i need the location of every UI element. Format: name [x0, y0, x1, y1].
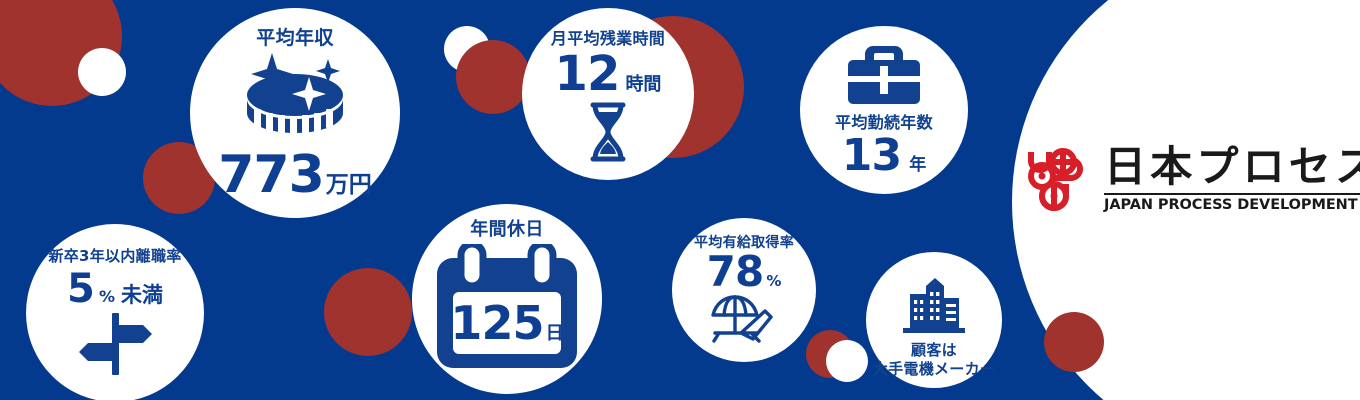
- stat-suffix: 未満: [121, 285, 163, 306]
- stat-unit: 時間: [625, 76, 661, 94]
- decor-circle-red-upper-mid: [456, 40, 530, 114]
- stat-unit: %: [99, 289, 115, 305]
- stat-caption: 年間休日: [470, 220, 543, 240]
- stat-value: 12: [555, 50, 620, 98]
- briefcase-icon: [846, 44, 922, 110]
- company-logo: 日本プロセス JAPAN PROCESS DEVELOPMENT CO.,LTD…: [1022, 146, 1360, 213]
- stat-caption: 平均年収: [256, 28, 334, 49]
- stat-caption: 月平均残業時間: [551, 30, 665, 48]
- japan-process-logo-mark-icon: [1022, 146, 1094, 212]
- stat-value: 125: [450, 300, 543, 346]
- stat-unit: 万円: [326, 174, 372, 197]
- stat-bubble-new-grad-turnover: 新卒3年以内離職率 5 % 未満: [26, 224, 204, 400]
- stat-value: 78: [707, 251, 764, 293]
- decor-circle-red-lower-mid: [324, 268, 412, 356]
- stat-value: 773: [218, 149, 323, 201]
- stat-caption: 新卒3年以内離職率: [48, 248, 181, 265]
- logo-name-ja: 日本プロセス: [1104, 146, 1360, 188]
- signpost-icon: [78, 313, 152, 379]
- buildings-icon: [899, 276, 969, 338]
- stat-unit: 年: [909, 157, 926, 174]
- coin-stack-icon: [236, 51, 354, 151]
- stat-bubble-average-income: 平均年収: [190, 8, 400, 218]
- stat-value-row: 78 %: [707, 251, 782, 293]
- decor-circle-white-bottom-mid: [826, 340, 868, 382]
- stat-value-row: 13 年: [842, 134, 926, 178]
- stat-bubble-annual-holidays: 年間休日 125 日: [412, 204, 602, 394]
- stat-value-row: 773 万円: [218, 149, 371, 201]
- stat-bubble-average-tenure: 平均勤続年数 13 年: [800, 26, 968, 194]
- stat-value: 5: [67, 269, 94, 309]
- stat-bubble-monthly-overtime: 月平均残業時間 12 時間: [522, 8, 694, 180]
- hourglass-icon: [581, 100, 635, 168]
- logo-divider: [1104, 193, 1360, 195]
- beach-chair-icon: [707, 295, 781, 347]
- infographic-banner: 平均年収: [0, 0, 1360, 400]
- decor-circle-red-over-hero: [1044, 312, 1104, 372]
- logo-text-block: 日本プロセス JAPAN PROCESS DEVELOPMENT CO.,LTD…: [1104, 146, 1360, 213]
- stat-value: 13: [842, 134, 901, 178]
- stat-unit: 日: [546, 325, 564, 343]
- stat-value-row: 5 % 未満: [67, 269, 163, 309]
- stat-bubble-paid-leave-rate: 平均有給取得率 78 %: [672, 218, 816, 362]
- client-line-1: 顧客は: [911, 342, 957, 359]
- stat-unit: %: [766, 274, 781, 289]
- stat-bubble-clients: 顧客は 大手電機メーカー: [866, 252, 1002, 388]
- stat-value-row: 12 時間: [555, 50, 662, 98]
- calendar-icon: 125 日: [427, 244, 587, 376]
- client-line-2: 大手電機メーカー: [873, 361, 995, 378]
- decor-circle-white-top-left: [78, 48, 126, 96]
- stat-caption: 平均勤続年数: [835, 114, 933, 132]
- stat-value-row: 125 日: [427, 300, 587, 346]
- logo-name-en: JAPAN PROCESS DEVELOPMENT CO.,LTD.: [1104, 198, 1360, 213]
